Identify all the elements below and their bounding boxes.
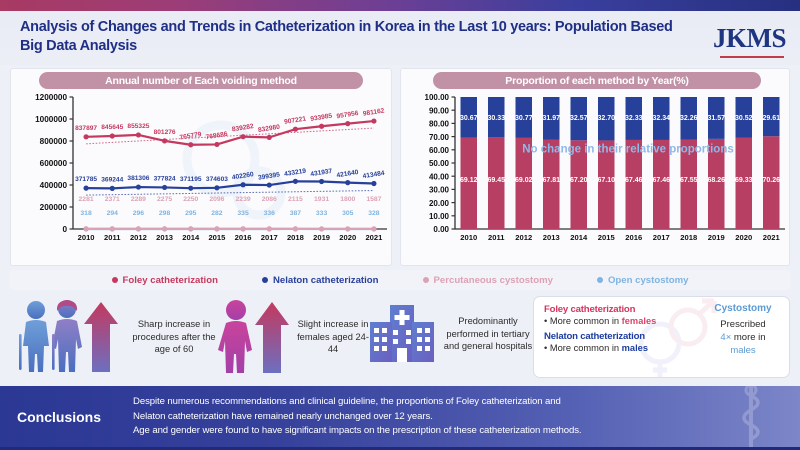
svg-text:2021: 2021 (365, 233, 383, 242)
svg-text:200000: 200000 (40, 203, 68, 212)
legend-label-open: Open cystostomy (608, 275, 689, 286)
callout-nelaton-heading: Nelaton catheterization (544, 331, 696, 342)
svg-text:1000000: 1000000 (35, 115, 67, 124)
panel-left-title: Annual number of Each voiding method (39, 72, 363, 89)
svg-text:0.00: 0.00 (433, 225, 449, 234)
highlight-elderly-text: Sharp increase in procedures after the a… (132, 318, 216, 356)
svg-text:2115: 2115 (288, 196, 303, 203)
svg-text:2281: 2281 (79, 196, 94, 203)
svg-text:374603: 374603 (206, 176, 228, 183)
callout-cystostomy-multiplier: 4× (720, 332, 731, 343)
svg-text:90.00: 90.00 (429, 106, 450, 115)
svg-text:845645: 845645 (101, 124, 123, 131)
caduceus-watermark (720, 386, 782, 450)
svg-text:2017: 2017 (653, 233, 670, 242)
callout-cystostomy-line3: males (700, 344, 786, 357)
callout-nelaton-bullet-em: males (622, 343, 648, 353)
legend-label-nelaton: Nelaton catheterization (273, 275, 379, 286)
chart-legend: Foley catheterization Nelaton catheteriz… (10, 270, 790, 290)
svg-text:387: 387 (290, 210, 302, 217)
legend-label-foley: Foley catheterization (123, 275, 218, 286)
jkms-logo-underline (720, 56, 784, 58)
svg-text:2016: 2016 (625, 233, 642, 242)
svg-text:335: 335 (237, 210, 249, 217)
highlight-hospital: Predominantly performed in tertiary and … (368, 302, 534, 366)
svg-text:2012: 2012 (130, 233, 147, 242)
svg-text:933985: 933985 (310, 113, 333, 123)
highlight-female: Slight increase in females aged 24-44 (215, 298, 369, 376)
svg-text:2021: 2021 (763, 233, 781, 242)
svg-text:67.10: 67.10 (597, 177, 615, 184)
svg-text:30.52: 30.52 (735, 115, 753, 122)
svg-text:907221: 907221 (284, 115, 307, 125)
svg-text:2014: 2014 (182, 233, 200, 242)
svg-text:69.33: 69.33 (735, 177, 753, 184)
svg-text:32.57: 32.57 (570, 115, 588, 122)
svg-text:0: 0 (62, 225, 67, 234)
svg-text:371785: 371785 (75, 176, 97, 183)
legend-item-nelaton: Nelaton catheterization (262, 275, 379, 286)
callout-box: Foley catheterization • More common in f… (533, 296, 790, 378)
svg-text:2371: 2371 (105, 196, 120, 203)
svg-text:981162: 981162 (362, 107, 385, 117)
svg-text:294: 294 (107, 210, 119, 217)
legend-item-open: Open cystostomy (597, 275, 689, 286)
conclusions-line-1: Despite numerous recommendations and cli… (133, 395, 773, 410)
svg-text:413484: 413484 (362, 170, 385, 180)
panel-annual-numbers: Annual number of Each voiding method 020… (10, 68, 392, 266)
svg-text:29.61: 29.61 (762, 115, 780, 122)
svg-text:433219: 433219 (284, 168, 307, 178)
highlight-elderly: Sharp increase in procedures after the a… (14, 298, 216, 376)
svg-text:2019: 2019 (313, 233, 330, 242)
svg-text:32.34: 32.34 (652, 115, 670, 122)
callout-column-catheterization: Foley catheterization • More common in f… (544, 304, 696, 353)
svg-text:2016: 2016 (235, 233, 252, 242)
svg-text:2013: 2013 (543, 233, 560, 242)
svg-text:30.00: 30.00 (429, 186, 450, 195)
conclusions-body: Despite numerous recommendations and cli… (133, 395, 773, 439)
callout-cystostomy-heading: Cystostomy (700, 303, 786, 314)
svg-text:377824: 377824 (154, 175, 176, 182)
svg-text:70.00: 70.00 (429, 133, 450, 142)
svg-text:68.26: 68.26 (707, 177, 725, 184)
callout-column-cystostomy: Cystostomy Prescribed 4× more in males (700, 303, 786, 357)
svg-text:431937: 431937 (310, 168, 333, 178)
svg-text:957956: 957956 (336, 110, 359, 120)
line-chart-svg: 0200000400000600000800000100000012000008… (11, 89, 393, 267)
svg-text:70.26: 70.26 (762, 177, 780, 184)
svg-text:50.00: 50.00 (429, 159, 450, 168)
svg-text:369244: 369244 (101, 176, 123, 183)
callout-foley-heading: Foley catheterization (544, 304, 696, 315)
svg-text:2011: 2011 (488, 233, 505, 242)
legend-dot-percutaneous (423, 277, 429, 283)
svg-text:336: 336 (264, 210, 276, 217)
svg-text:2015: 2015 (598, 233, 616, 242)
line-chart: 0200000400000600000800000100000012000008… (11, 89, 391, 267)
legend-label-percutaneous: Percutaneous cystostomy (434, 275, 553, 286)
svg-text:832980: 832980 (258, 124, 281, 134)
callout-cystostomy-line1: Prescribed (700, 318, 786, 331)
svg-text:2018: 2018 (287, 233, 304, 242)
svg-text:2018: 2018 (680, 233, 697, 242)
callout-foley-bullet-em: females (622, 316, 657, 326)
svg-text:421640: 421640 (336, 169, 359, 179)
svg-text:30.33: 30.33 (487, 115, 505, 122)
svg-text:600000: 600000 (40, 159, 68, 168)
legend-item-foley: Foley catheterization (112, 275, 218, 286)
callout-nelaton-bullet-prefix: • More common in (544, 343, 622, 353)
svg-text:800000: 800000 (40, 137, 68, 146)
top-gradient-bar (0, 0, 800, 11)
callout-foley-bullet: • More common in females (544, 316, 696, 326)
highlight-hospital-text: Predominantly performed in tertiary and … (442, 315, 534, 353)
svg-text:20.00: 20.00 (429, 199, 450, 208)
svg-text:296: 296 (133, 210, 145, 217)
svg-text:67.55: 67.55 (680, 177, 698, 184)
svg-text:67.46: 67.46 (625, 177, 643, 184)
legend-dot-open (597, 277, 603, 283)
svg-text:30.67: 30.67 (460, 115, 478, 122)
conclusions-line-2: Nelaton catheterization have remained ne… (133, 410, 773, 425)
legend-item-percutaneous: Percutaneous cystostomy (423, 275, 553, 286)
svg-text:2015: 2015 (208, 233, 226, 242)
svg-text:837897: 837897 (75, 125, 97, 132)
svg-text:305: 305 (342, 210, 354, 217)
svg-text:295: 295 (185, 210, 197, 217)
svg-text:2010: 2010 (460, 233, 477, 242)
svg-text:801276: 801276 (154, 129, 176, 136)
svg-text:298: 298 (159, 210, 171, 217)
callout-foley-bullet-prefix: • More common in (544, 316, 622, 326)
svg-text:1587: 1587 (366, 196, 381, 203)
svg-text:2096: 2096 (209, 196, 224, 203)
svg-text:No change in their relative pr: No change in their relative proportions (522, 143, 734, 155)
svg-text:31.57: 31.57 (707, 115, 725, 122)
svg-text:2020: 2020 (339, 233, 356, 242)
panel-proportions: Proportion of each method by Year(%) 0.0… (400, 68, 790, 266)
svg-text:855325: 855325 (127, 123, 149, 130)
svg-text:1800: 1800 (340, 196, 355, 203)
svg-text:60.00: 60.00 (429, 146, 450, 155)
svg-text:2019: 2019 (708, 233, 725, 242)
svg-text:31.97: 31.97 (542, 115, 560, 122)
svg-text:2012: 2012 (515, 233, 532, 242)
svg-text:2250: 2250 (183, 196, 198, 203)
stacked-bar-chart: 0.0010.0020.0030.0040.0050.0060.0070.008… (401, 89, 789, 267)
svg-text:69.12: 69.12 (460, 177, 478, 184)
highlight-female-text: Slight increase in females aged 24-44 (297, 318, 369, 356)
svg-text:69.02: 69.02 (515, 177, 533, 184)
female-figure-icon (215, 298, 293, 376)
conclusions-label: Conclusions (17, 409, 101, 425)
conclusions-line-3: Age and gender were found to have signif… (133, 424, 773, 439)
elderly-couple-icon (14, 298, 126, 376)
svg-text:2239: 2239 (236, 196, 251, 203)
svg-text:2010: 2010 (78, 233, 95, 242)
svg-text:40.00: 40.00 (429, 172, 450, 181)
conclusions-section: Conclusions Despite numerous recommendat… (0, 386, 800, 450)
header: Analysis of Changes and Trends in Cathet… (0, 11, 800, 65)
svg-text:2014: 2014 (570, 233, 588, 242)
svg-text:69.45: 69.45 (487, 177, 505, 184)
svg-text:10.00: 10.00 (429, 212, 450, 221)
svg-text:1931: 1931 (314, 196, 329, 203)
svg-text:2017: 2017 (261, 233, 278, 242)
highlights-row: Sharp increase in procedures after the a… (10, 294, 790, 380)
page-title: Analysis of Changes and Trends in Cathet… (20, 18, 680, 56)
svg-text:67.46: 67.46 (652, 177, 670, 184)
svg-text:768686: 768686 (205, 131, 228, 141)
jkms-logo: JKMS (713, 23, 786, 54)
svg-text:381306: 381306 (127, 175, 149, 182)
svg-text:2275: 2275 (157, 196, 172, 203)
svg-text:2020: 2020 (735, 233, 752, 242)
svg-text:400000: 400000 (40, 181, 68, 190)
infographic-page: Analysis of Changes and Trends in Cathet… (0, 0, 800, 450)
svg-text:2011: 2011 (104, 233, 121, 242)
svg-text:318: 318 (80, 210, 92, 217)
svg-text:2289: 2289 (131, 196, 146, 203)
svg-text:80.00: 80.00 (429, 120, 450, 129)
svg-text:2086: 2086 (262, 196, 277, 203)
svg-text:32.70: 32.70 (597, 115, 615, 122)
svg-text:2013: 2013 (156, 233, 173, 242)
bar-chart-svg: 0.0010.0020.0030.0040.0050.0060.0070.008… (401, 89, 791, 267)
legend-dot-foley (112, 277, 118, 283)
svg-text:333: 333 (316, 210, 328, 217)
panel-right-title: Proportion of each method by Year(%) (433, 72, 761, 89)
svg-text:371195: 371195 (180, 176, 202, 183)
svg-text:328: 328 (368, 210, 380, 217)
callout-cystostomy-line2: 4× more in (700, 331, 786, 344)
svg-text:67.81: 67.81 (542, 177, 560, 184)
legend-dot-nelaton (262, 277, 268, 283)
svg-text:32.26: 32.26 (680, 115, 698, 122)
callout-cystostomy-line2-rest: more in (731, 332, 765, 343)
hospital-icon (368, 302, 436, 366)
svg-text:30.77: 30.77 (515, 115, 533, 122)
svg-text:100.00: 100.00 (425, 93, 450, 102)
svg-text:67.20: 67.20 (570, 177, 588, 184)
svg-text:32.33: 32.33 (625, 115, 643, 122)
svg-text:1200000: 1200000 (35, 93, 67, 102)
callout-nelaton-bullet: • More common in males (544, 343, 696, 353)
svg-text:282: 282 (211, 210, 223, 217)
